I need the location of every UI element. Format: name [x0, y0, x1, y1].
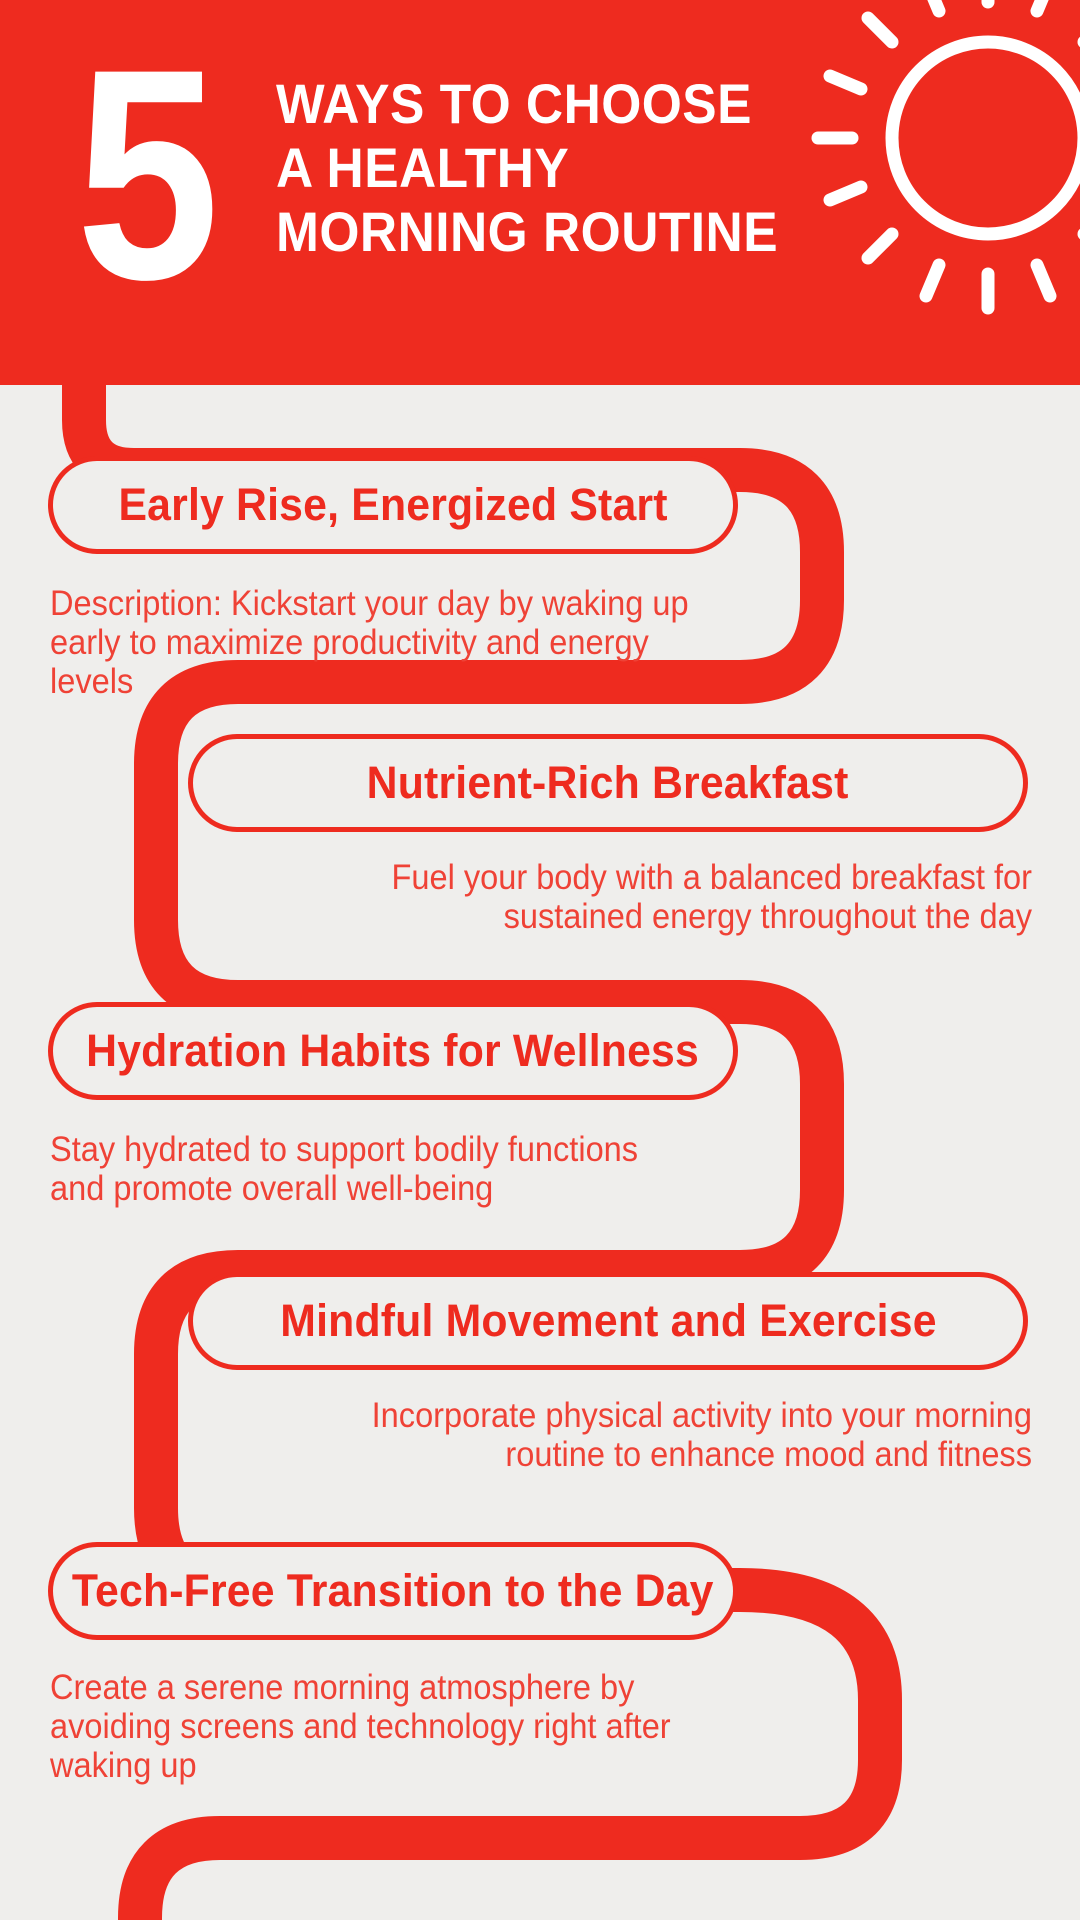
sun-icon: [798, 0, 1080, 320]
step-1-title: Early Rise, Energized Start: [118, 481, 667, 529]
step-1-description: Description: Kickstart your day by wakin…: [50, 584, 701, 701]
step-2-description: Fuel your body with a balanced breakfast…: [362, 858, 1032, 936]
step-2-pill[interactable]: Nutrient-Rich Breakfast: [188, 734, 1028, 832]
step-3-title: Hydration Habits for Wellness: [87, 1027, 700, 1075]
step-5-title: Tech-Free Transition to the Day: [72, 1567, 714, 1615]
step-4-description: Incorporate physical activity into your …: [362, 1396, 1032, 1474]
step-5-pill[interactable]: Tech-Free Transition to the Day: [48, 1542, 738, 1640]
step-1-pill[interactable]: Early Rise, Energized Start: [48, 456, 738, 554]
header-band: 5 WAYS TO CHOOSE A HEALTHY MORNING ROUTI…: [0, 0, 1080, 385]
step-4-title: Mindful Movement and Exercise: [280, 1297, 936, 1345]
step-5-description: Create a serene morning atmosphere by av…: [50, 1668, 692, 1785]
infographic-page: 5 WAYS TO CHOOSE A HEALTHY MORNING ROUTI…: [0, 0, 1080, 1920]
step-3-pill[interactable]: Hydration Habits for Wellness: [48, 1002, 738, 1100]
step-2-title: Nutrient-Rich Breakfast: [367, 759, 849, 807]
step-4-pill[interactable]: Mindful Movement and Exercise: [188, 1272, 1028, 1370]
step-3-description: Stay hydrated to support bodily function…: [50, 1130, 682, 1208]
header-number: 5: [76, 44, 214, 304]
page-title: WAYS TO CHOOSE A HEALTHY MORNING ROUTINE: [276, 72, 778, 264]
